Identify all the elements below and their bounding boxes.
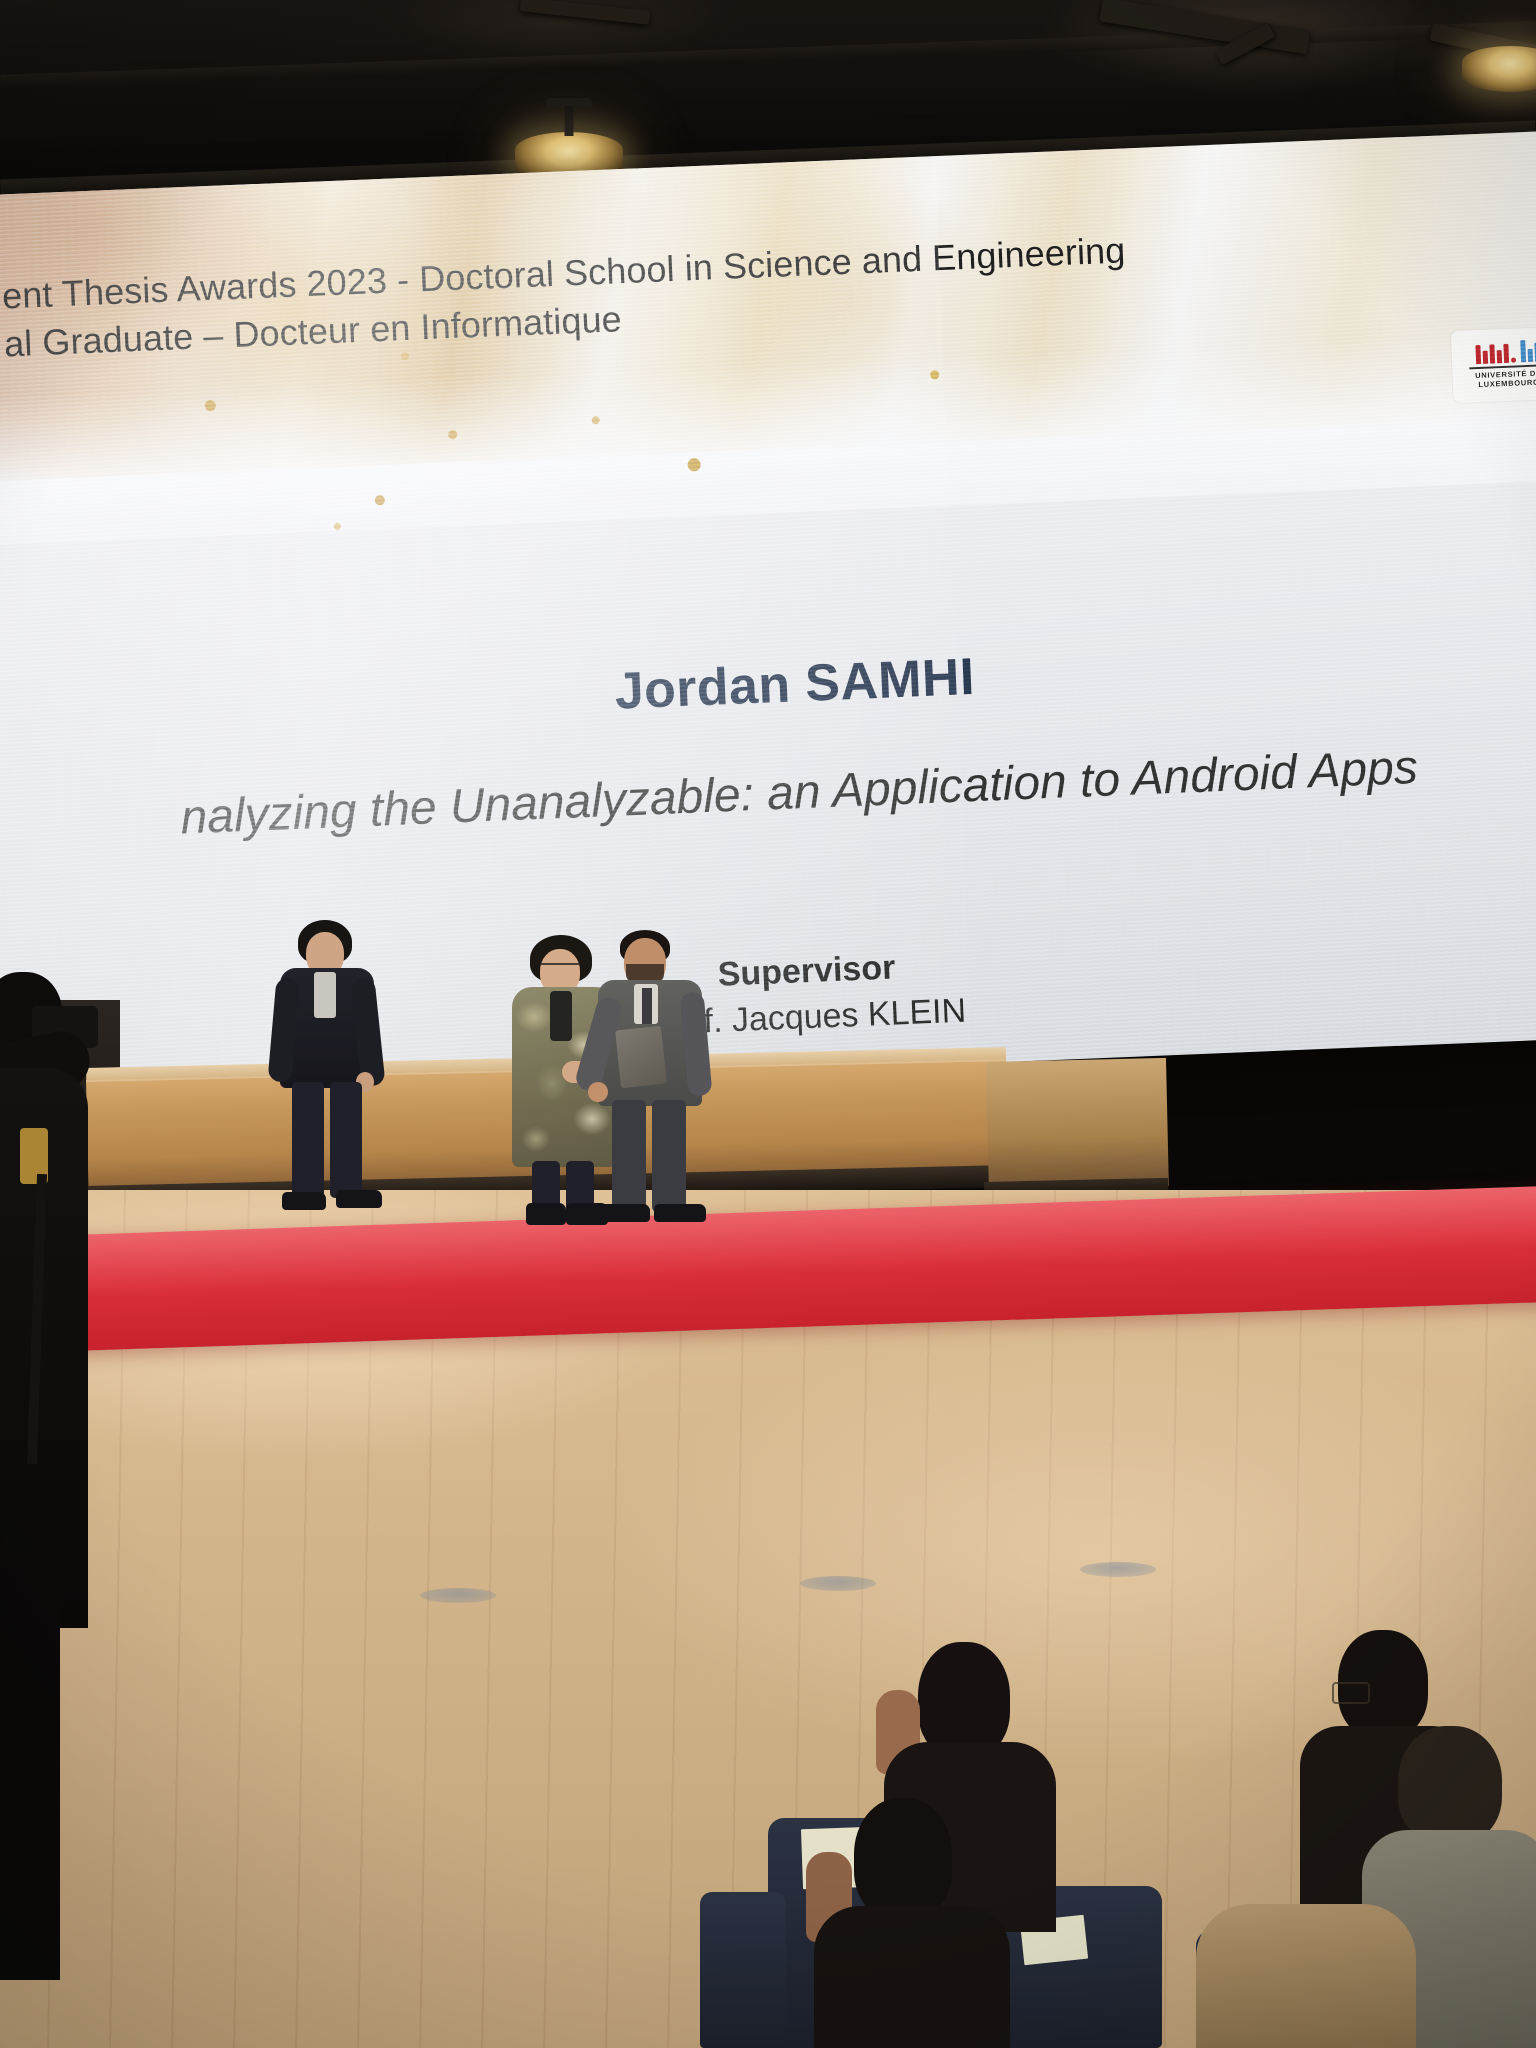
leg	[292, 1082, 324, 1198]
award-diploma	[615, 1026, 667, 1088]
audience-shoulders	[1196, 1904, 1416, 2048]
photo-scene: ent Thesis Awards 2023 - Doctoral School…	[0, 0, 1536, 2048]
logo-bar	[1520, 340, 1526, 362]
photographer-silhouette	[0, 960, 160, 1960]
logo-line-2: LUXEMBOURG	[1478, 378, 1536, 390]
shoe	[282, 1192, 326, 1210]
audience-member-tan-coat	[1196, 1880, 1416, 2048]
shirt	[314, 972, 336, 1018]
logo-dot-icon	[1511, 358, 1516, 363]
glasses-icon	[540, 963, 580, 972]
spotlight-lens	[1462, 46, 1536, 92]
floor-inlay	[800, 1576, 876, 1591]
audience-head	[918, 1642, 1010, 1758]
shoe	[654, 1204, 706, 1222]
inner-top	[550, 991, 572, 1041]
university-logo: UNIVERSITÉ DU LUXEMBOURG	[1451, 327, 1536, 404]
leg	[330, 1082, 362, 1198]
floor-inlay	[420, 1588, 496, 1603]
shoe	[336, 1190, 382, 1208]
shoe	[600, 1204, 650, 1222]
tie	[642, 988, 652, 1024]
awardee-name: Jordan SAMHI	[0, 621, 1536, 747]
leg	[612, 1100, 646, 1212]
floor-inlay	[1080, 1562, 1156, 1577]
thesis-title: nalyzing the Unanalyzable: an Applicatio…	[0, 729, 1536, 858]
unilu-wordmark-icon	[1475, 340, 1536, 365]
boot	[526, 1203, 566, 1225]
person-official-left	[268, 920, 398, 1220]
logo-bar	[1528, 349, 1534, 362]
audience-head	[1398, 1726, 1502, 1844]
auditorium-chair	[700, 1892, 786, 2048]
logo-bar	[1483, 351, 1489, 364]
logo-bar	[1497, 350, 1503, 363]
photographer-lower	[0, 1580, 60, 1980]
hand-shaking	[588, 1082, 608, 1102]
logo-bar	[1489, 345, 1495, 364]
person-awardee	[592, 930, 722, 1230]
logo-bar	[1503, 344, 1509, 363]
ceiling-spotlight	[1462, 46, 1536, 92]
spotlight-stem	[565, 106, 574, 136]
audience-member-clapping	[812, 1794, 1012, 2048]
stage-ledge-right	[986, 1058, 1169, 1190]
projection-screen: ent Thesis Awards 2023 - Doctoral School…	[0, 130, 1536, 1104]
glasses-icon	[1332, 1682, 1370, 1704]
leg	[652, 1100, 686, 1212]
audience-head	[854, 1798, 952, 1920]
logo-bar	[1475, 345, 1481, 364]
audience-shoulders	[814, 1906, 1010, 2048]
